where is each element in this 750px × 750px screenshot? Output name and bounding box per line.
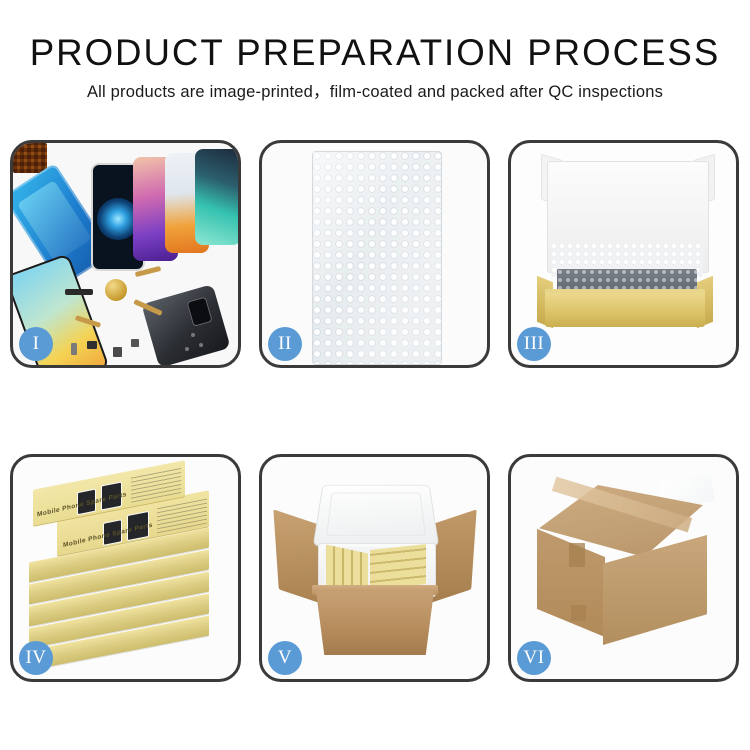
carton-right-face xyxy=(603,535,707,645)
step-panel-3: III xyxy=(508,140,739,368)
carton-handle-tab-lower xyxy=(571,605,586,621)
carton-body xyxy=(316,591,434,655)
small-part-3 xyxy=(131,339,139,347)
step-badge-3: III xyxy=(517,327,551,361)
carton-handle-tab-upper xyxy=(569,543,585,567)
step-panel-4: Mobile Phone Spare Parts Mobile Phone Sp… xyxy=(10,454,241,682)
page-subtitle: All products are image-printed，film-coat… xyxy=(0,80,750,104)
screw-1 xyxy=(191,333,195,337)
chip-grid-part xyxy=(13,143,47,173)
step-badge-4: IV xyxy=(19,641,53,675)
process-step-grid: I II xyxy=(10,140,740,682)
page-title: PRODUCT PREPARATION PROCESS xyxy=(4,30,747,76)
small-part-4 xyxy=(71,343,77,355)
small-part-1 xyxy=(87,341,97,349)
speaker-coin-part xyxy=(105,279,127,301)
phone-back-housing xyxy=(141,284,230,365)
step-panel-6: VI xyxy=(508,454,739,682)
step-badge-6: VI xyxy=(517,641,551,675)
bubble-wrap-sheen xyxy=(313,152,441,364)
bubble-wrap-sheet xyxy=(312,151,442,365)
dark-connector-bar xyxy=(65,289,93,295)
screw-2 xyxy=(199,343,203,347)
step-panel-2: II xyxy=(259,140,490,368)
step-panel-5: V xyxy=(259,454,490,682)
step-badge-5: V xyxy=(268,641,302,675)
box-spec-lines-1 xyxy=(131,467,181,503)
step-badge-2: II xyxy=(268,327,302,361)
screw-3 xyxy=(185,347,189,351)
box-stack: Mobile Phone Spare Parts Mobile Phone Sp… xyxy=(21,471,233,671)
foam-lid-open xyxy=(313,485,439,547)
header: PRODUCT PREPARATION PROCESS All products… xyxy=(0,0,750,104)
product-preparation-infographic: PRODUCT PREPARATION PROCESS All products… xyxy=(0,0,750,750)
yellow-box-front xyxy=(545,293,705,327)
yellow-boxes-right xyxy=(370,544,426,590)
step-badge-1: I xyxy=(19,327,53,361)
step-panel-1: I xyxy=(10,140,241,368)
teal-gradient-phone xyxy=(195,149,238,245)
small-part-2 xyxy=(113,347,122,357)
box-spec-lines-2 xyxy=(157,498,207,534)
